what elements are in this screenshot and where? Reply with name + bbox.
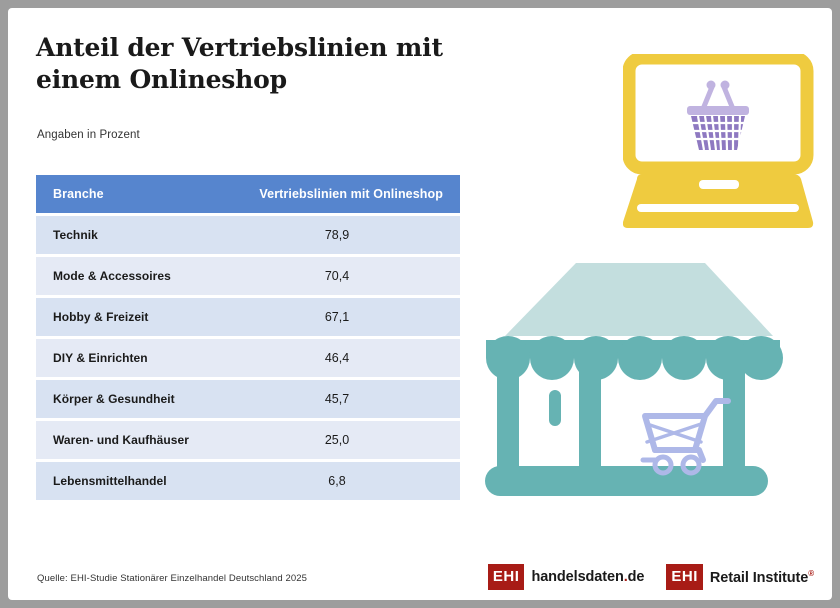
subtitle-units: Angaben in Prozent (37, 129, 140, 141)
logo-retail-institute[interactable]: EHI Retail Institute® (666, 564, 814, 590)
table-row: DIY & Einrichten 46,4 (36, 339, 460, 377)
basket-rim (687, 106, 749, 115)
row-value: 45,7 (236, 392, 460, 406)
logo-handelsdaten[interactable]: EHI handelsdaten.de (488, 564, 644, 590)
ehi-mark-icon: EHI (666, 564, 703, 590)
row-label: Lebensmittelhandel (36, 474, 236, 488)
table-row: Mode & Accessoires 70,4 (36, 257, 460, 295)
store-pillar-right (723, 353, 745, 473)
table-row: Lebensmittelhandel 6,8 (36, 462, 460, 500)
column-header-value: Vertriebslinien mit Onlineshop (236, 187, 460, 201)
basket-handle-knob-left (707, 81, 716, 90)
laptop-trackpad (699, 180, 739, 189)
row-label: Technik (36, 228, 236, 242)
row-value: 70,4 (236, 269, 460, 283)
store-base (485, 466, 768, 496)
table-row: Hobby & Freizeit 67,1 (36, 298, 460, 336)
logo-word: Retail Institute (710, 569, 808, 585)
logo-word: handelsdaten (531, 569, 623, 585)
data-table: Branche Vertriebslinien mit Onlineshop T… (36, 175, 460, 503)
page-title: Anteil der Vertriebslinien mit einem Onl… (36, 32, 466, 96)
shopping-cart-icon (645, 401, 728, 460)
row-label: Hobby & Freizeit (36, 310, 236, 324)
table-row: Körper & Gesundheit 45,7 (36, 380, 460, 418)
store-door-handle (549, 390, 561, 426)
illustration-area (463, 26, 828, 536)
ehi-mark-icon: EHI (488, 564, 525, 590)
table-header-row: Branche Vertriebslinien mit Onlineshop (36, 175, 460, 213)
row-value: 46,4 (236, 351, 460, 365)
source-note: Quelle: EHI-Studie Stationärer Einzelhan… (37, 573, 307, 584)
cart-wheel-right (683, 457, 699, 473)
row-value: 25,0 (236, 433, 460, 447)
laptop-base-strip (637, 204, 799, 212)
laptop-with-basket-illustration (623, 54, 823, 239)
registered-trademark-icon: ® (808, 569, 814, 578)
logo-retail-label: Retail Institute® (710, 569, 814, 586)
store-pillar-middle (579, 353, 601, 473)
page-frame: Anteil der Vertriebslinien mit einem Onl… (0, 0, 840, 608)
column-header-branche: Branche (36, 187, 236, 201)
storefront-illustration (473, 258, 793, 508)
table-row: Technik 78,9 (36, 216, 460, 254)
infographic-card: Anteil der Vertriebslinien mit einem Onl… (8, 8, 832, 600)
row-value: 78,9 (236, 228, 460, 242)
logo-handelsdaten-label: handelsdaten.de (531, 569, 644, 585)
row-value: 67,1 (236, 310, 460, 324)
logo-group: EHI handelsdaten.de EHI Retail Institute… (488, 564, 814, 590)
row-label: DIY & Einrichten (36, 351, 236, 365)
row-label: Körper & Gesundheit (36, 392, 236, 406)
row-label: Mode & Accessoires (36, 269, 236, 283)
basket-handle-knob-right (721, 81, 730, 90)
logo-tld: de (628, 569, 645, 585)
store-pillar-left (497, 353, 519, 473)
row-value: 6,8 (236, 474, 460, 488)
store-roof (505, 263, 773, 336)
table-row: Waren- und Kaufhäuser 25,0 (36, 421, 460, 459)
row-label: Waren- und Kaufhäuser (36, 433, 236, 447)
